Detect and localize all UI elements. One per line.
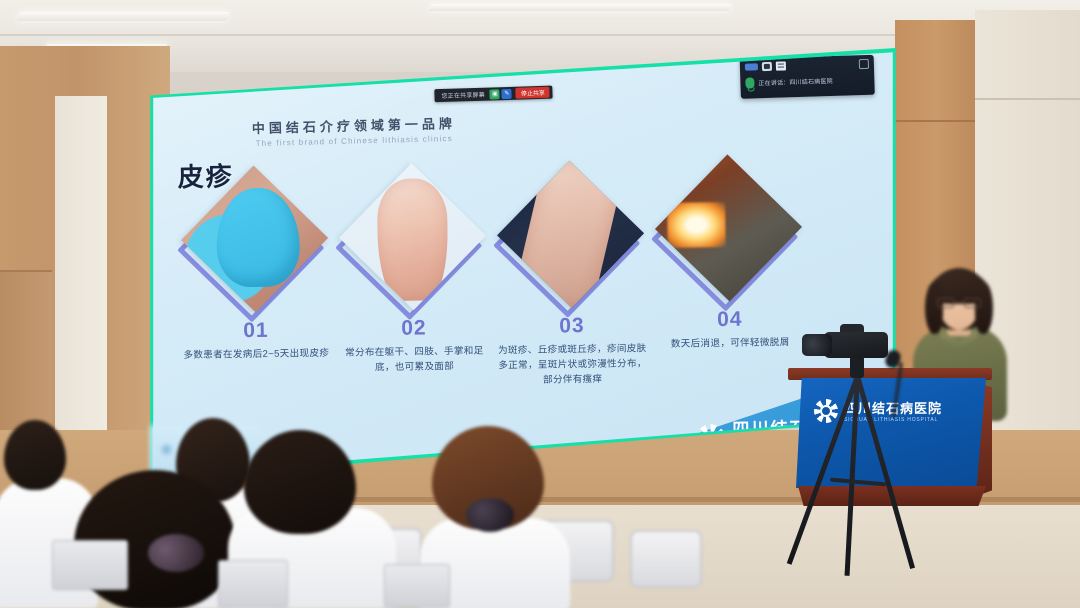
- attendee-head: [244, 430, 356, 534]
- attendee-laptop[interactable]: [218, 560, 288, 608]
- hair-ornament-icon: [466, 498, 514, 532]
- hair-ornament-icon: [148, 534, 204, 572]
- attendee-head: [4, 420, 66, 490]
- audience-area: [0, 0, 1080, 608]
- attendee-laptop[interactable]: [384, 564, 450, 608]
- attendee-laptop[interactable]: [52, 540, 128, 590]
- screenshot-stage: 中国结石介疗领域第一品牌 The first brand of Chinese …: [0, 0, 1080, 608]
- audience-chair: [630, 530, 702, 588]
